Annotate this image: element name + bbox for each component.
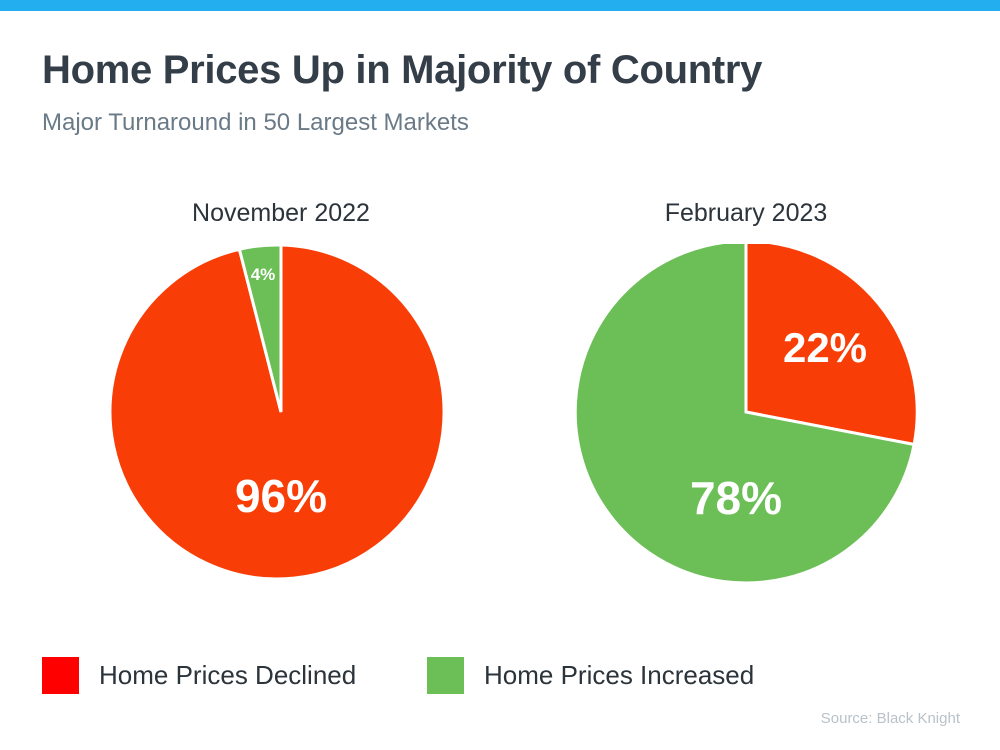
square-swatch-icon-declined	[42, 657, 79, 694]
chart-legend: Home Prices Declined Home Prices Increas…	[42, 654, 942, 696]
page-title: Home Prices Up in Majority of Country	[42, 45, 942, 95]
top-accent-bar	[0, 0, 1000, 11]
legend-item-home-prices-increased[interactable]: Home Prices Increased	[427, 654, 754, 696]
square-swatch-icon-increased	[427, 657, 464, 694]
infographic-root: Home Prices Up in Majority of Country Ma…	[0, 0, 1000, 750]
page-subtitle: Major Turnaround in 50 Largest Markets	[42, 107, 942, 139]
chart-title-february-2023: February 2023	[561, 196, 931, 230]
pie-label-increased-november: 4%	[251, 265, 276, 284]
pie-svg-november-2022: 96% 4%	[96, 244, 466, 604]
pie-svg-february-2023: 22% 78%	[561, 244, 931, 604]
pie-chart-february-2023: 22% 78%	[561, 244, 931, 604]
pie-label-declined-november: 96%	[235, 470, 327, 522]
chart-panel-november-2022: November 2022 96% 4%	[96, 196, 466, 604]
chart-panel-february-2023: February 2023 22% 78%	[561, 196, 931, 604]
pie-label-increased-february: 78%	[690, 472, 782, 524]
legend-label-declined: Home Prices Declined	[99, 660, 356, 690]
source-attribution: Source: Black Knight	[821, 710, 960, 727]
chart-title-november-2022: November 2022	[96, 196, 466, 230]
legend-label-increased: Home Prices Increased	[484, 660, 754, 690]
legend-item-home-prices-declined[interactable]: Home Prices Declined	[42, 654, 356, 696]
pie-label-declined-february: 22%	[783, 324, 867, 371]
pie-chart-november-2022: 96% 4%	[96, 244, 466, 604]
